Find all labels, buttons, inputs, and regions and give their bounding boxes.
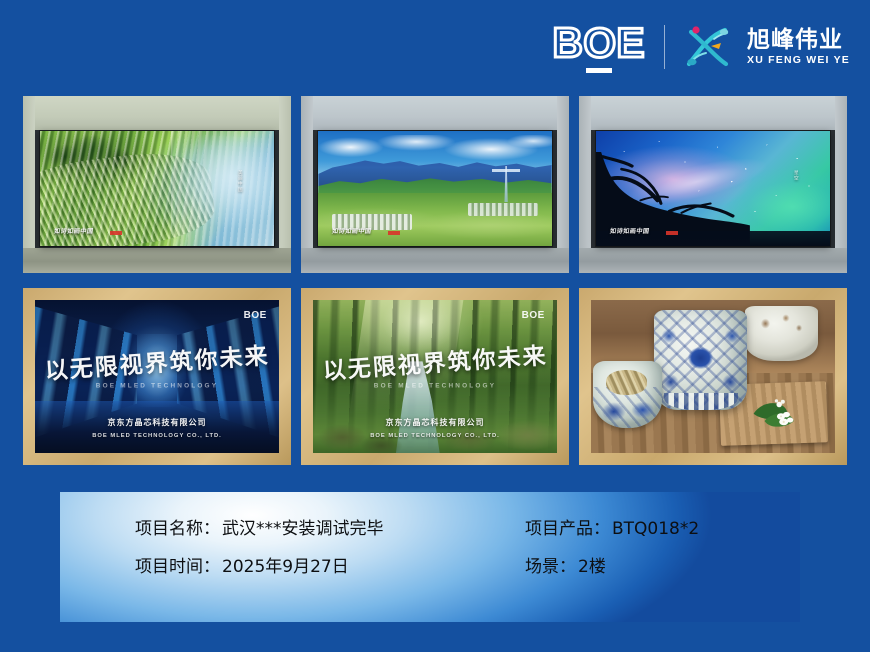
header: BOE 旭峰伟业 XU FENG WEI YE: [0, 0, 870, 94]
photo-6-scene: [579, 288, 847, 465]
led-screen-5: BOE 以无限视界筑你未来 BOE MLED TECHNOLOGY 京东方晶芯科…: [313, 300, 557, 452]
led-screen-1: 美丽中国 如诗如画中国: [40, 131, 273, 245]
led-screen-2: 如诗如画中国: [318, 131, 551, 245]
boe-wordmark-text: BOE: [552, 22, 647, 64]
screen-slogan-sub-5: BOE MLED TECHNOLOGY: [374, 382, 496, 389]
photo-tile-5[interactable]: BOE 以无限视界筑你未来 BOE MLED TECHNOLOGY 京东方晶芯科…: [301, 288, 569, 465]
photo-gallery: 美丽中国 如诗如画中国: [23, 96, 847, 465]
photo-1-scene: 美丽中国 如诗如画中国: [23, 96, 291, 273]
screen-vertical-text-1: 美丽中国: [238, 170, 244, 192]
led-screen-4: BOE 以无限视界筑你未来 BOE MLED TECHNOLOGY 京东方晶芯科…: [35, 300, 279, 452]
partner-name-en: XU FENG WEI YE: [747, 55, 850, 66]
scene-row: 场景： 2楼: [525, 552, 780, 577]
project-name-row: 项目名称： 武汉***安装调试完毕: [135, 514, 525, 539]
screen-company-en-4: BOE MLED TECHNOLOGY CO., LTD.: [92, 433, 222, 439]
wall-side-left: [301, 96, 313, 273]
boe-logo: BOE: [552, 22, 647, 73]
screen-boe-brand-4: BOE: [244, 310, 267, 321]
photo-tile-2[interactable]: 如诗如画中国: [301, 96, 569, 273]
logo-divider: [664, 25, 665, 69]
photo-2-scene: 如诗如画中国: [301, 96, 569, 273]
project-product-row: 项目产品： BTQ018*2: [525, 514, 780, 539]
project-name-label: 项目名称：: [135, 514, 220, 539]
screen-company-cn-4: 京东方晶芯科技有限公司: [108, 417, 207, 428]
jasmine-flowers: [742, 389, 805, 435]
photo-3-scene: 星空 如诗如画中国: [579, 96, 847, 273]
partner-name-cn: 旭峰伟业: [747, 28, 850, 51]
xufeng-crane-emblem: [683, 22, 733, 72]
village-cluster-right: [468, 203, 538, 216]
screen-watermark-1: 如诗如画中国: [54, 226, 95, 235]
crackle-glaze-bowl: [745, 306, 818, 361]
project-info-grid: 项目名称： 武汉***安装调试完毕 项目产品： BTQ018*2 项目时间： 2…: [135, 514, 780, 577]
transmission-tower-arm: [492, 169, 520, 172]
project-time-value: 2025年9月27日: [222, 552, 349, 577]
screen-company-en-5: BOE MLED TECHNOLOGY CO., LTD.: [370, 433, 500, 439]
wall-top: [579, 96, 847, 130]
glaze-spots: [745, 306, 818, 361]
photo-4-scene: BOE 以无限视界筑你未来 BOE MLED TECHNOLOGY 京东方晶芯科…: [23, 288, 291, 465]
project-time-label: 项目时间：: [135, 552, 220, 577]
screen-red-chip-1: [110, 231, 122, 235]
wall-side-right: [557, 96, 569, 273]
project-info-panel: 项目名称： 武汉***安装调试完毕 项目产品： BTQ018*2 项目时间： 2…: [60, 492, 800, 622]
project-name-value: 武汉***安装调试完毕: [222, 514, 384, 539]
scene-label: 场景：: [525, 552, 576, 577]
screen-red-chip-2: [388, 231, 400, 235]
photo-tile-1[interactable]: 美丽中国 如诗如画中国: [23, 96, 291, 273]
screen-red-chip-3: [666, 231, 678, 235]
screen-company-cn-5: 京东方晶芯科技有限公司: [386, 417, 485, 428]
wall-side-right: [835, 96, 847, 273]
led-screen-3: 星空 如诗如画中国: [596, 131, 829, 245]
screen-watermark-2: 如诗如画中国: [332, 226, 373, 235]
wall-side-left: [579, 96, 591, 273]
wall-floor: [579, 248, 847, 273]
partner-logo-text: 旭峰伟业 XU FENG WEI YE: [747, 28, 850, 66]
boe-underline-bar: [586, 68, 612, 73]
wall-top: [23, 96, 291, 130]
wall-side-left: [23, 96, 35, 273]
screen-vertical-text-3: 星空: [794, 170, 800, 181]
dried-tea-leaves: [606, 370, 647, 394]
photo-tile-4[interactable]: BOE 以无限视界筑你未来 BOE MLED TECHNOLOGY 京东方晶芯科…: [23, 288, 291, 465]
wall-top: [301, 96, 569, 130]
wall-floor: [301, 248, 569, 273]
project-product-label: 项目产品：: [525, 514, 610, 539]
porcelain-jar-foot: [664, 393, 738, 410]
photo-5-scene: BOE 以无限视界筑你未来 BOE MLED TECHNOLOGY 京东方晶芯科…: [301, 288, 569, 465]
logo-lockup: BOE 旭峰伟业 XU FENG WEI YE: [552, 18, 850, 76]
photo-tile-6[interactable]: [579, 288, 847, 465]
wall-side-right: [279, 96, 291, 273]
scene-value: 2楼: [578, 552, 606, 577]
screen-watermark-3: 如诗如画中国: [610, 226, 651, 235]
terrace-mist: [171, 131, 274, 245]
page-root: BOE 旭峰伟业 XU FENG WEI YE: [0, 0, 870, 652]
wall-floor: [23, 248, 291, 273]
project-product-value: BTQ018*2: [612, 519, 699, 539]
blue-white-porcelain-jar: [654, 310, 747, 410]
screen-slogan-sub-4: BOE MLED TECHNOLOGY: [96, 382, 218, 389]
photo-tile-3[interactable]: 星空 如诗如画中国: [579, 96, 847, 273]
screen-boe-brand-5: BOE: [522, 310, 545, 321]
project-time-row: 项目时间： 2025年9月27日: [135, 552, 525, 577]
led-screen-6: [591, 300, 835, 452]
